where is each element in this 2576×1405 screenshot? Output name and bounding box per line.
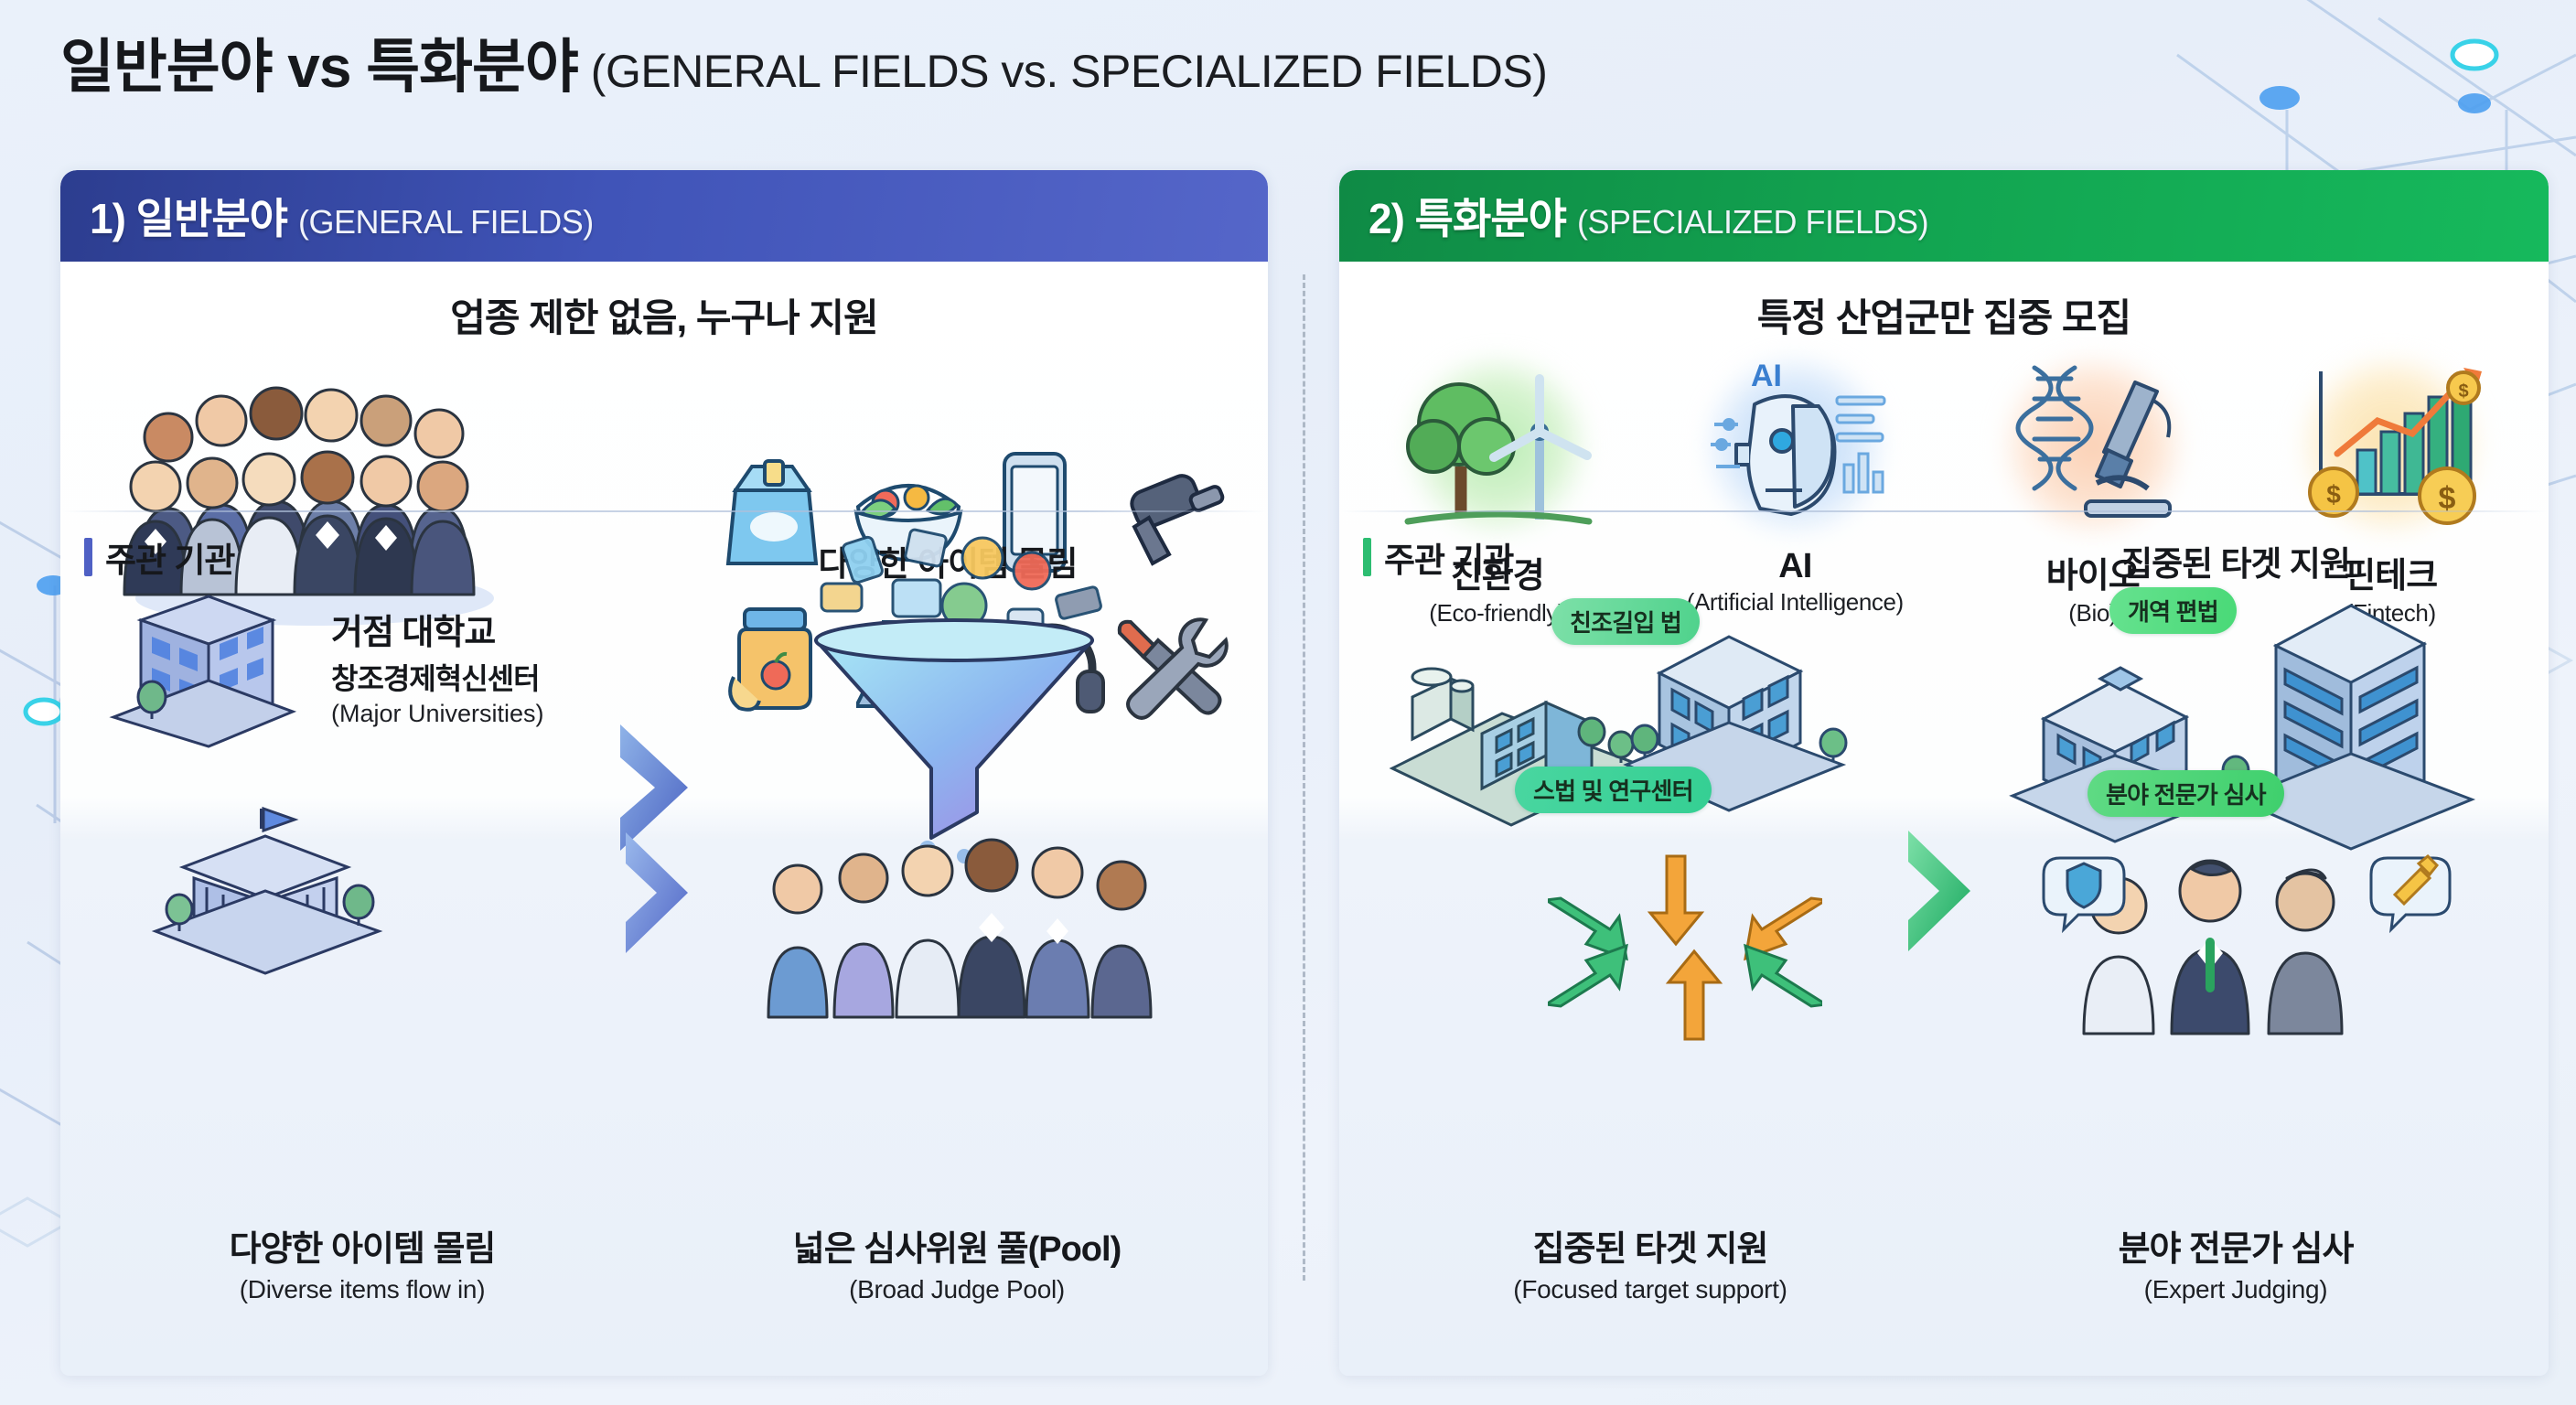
field-card[interactable]: $ $ $ 핀테크 (Fintech) <box>2253 349 2528 627</box>
general-org-subtitle: 창조경제혁신센터 <box>331 656 715 698</box>
field-art <box>1987 349 2199 542</box>
field-art: AI <box>1689 349 1901 542</box>
specialized-caption-right-en: (Expert Judging) <box>1943 1275 2528 1304</box>
specialized-caption-left-en: (Focused target support) <box>1358 1275 1943 1304</box>
field-art <box>1391 349 1604 542</box>
group-of-judges-icon <box>756 834 1176 1045</box>
chevron-right-icon <box>620 829 693 957</box>
tree-and-windmill-icon <box>1402 355 1593 534</box>
robot-head-icon: AI <box>1698 353 1892 536</box>
field-label-korean: AI <box>1658 547 1932 586</box>
office-building-icon <box>97 584 307 757</box>
specialized-section-organizer-label: 주관 기관 <box>1384 532 1513 582</box>
specialized-caption-left-ko: 집중된 타겟 지원 <box>1358 1220 1943 1271</box>
panel-specialized-body: 특정 산업군만 집중 모집 <box>1339 262 2549 1376</box>
badge-research-center[interactable]: 스법 및 연구센터 <box>1515 767 1712 813</box>
panel-general-fields: 1) 일반분야 (GENERAL FIELDS) 업종 제한 없음, 누구나 지… <box>60 170 1268 1376</box>
converging-arrows-icon <box>1548 847 1822 1048</box>
panel-specialized-header: 2) 특화분야 (SPECIALIZED FIELDS) <box>1339 170 2549 262</box>
general-caption-right-en: (Broad Judge Pool) <box>664 1275 1250 1304</box>
svg-text:$: $ <box>2326 480 2341 509</box>
general-caption-left: 다양한 아이템 몰림 (Diverse items flow in) <box>79 1220 646 1304</box>
general-section-organizer: 주관 기관 <box>84 532 234 582</box>
specialized-mid-divider <box>1339 510 2549 512</box>
specialized-caption-right: 분야 전문가 심사 (Expert Judging) <box>1943 1220 2528 1304</box>
svg-text:AI: AI <box>1751 359 1782 393</box>
specialized-field-list: 친환경 (Eco-friendly) AI <box>1348 349 2539 627</box>
page-title-english: (GENERAL FIELDS vs. SPECIALIZED FIELDS) <box>591 45 1548 98</box>
field-card[interactable]: 바이오 (Bio) <box>1956 349 2230 627</box>
general-caption-left-en: (Diverse items flow in) <box>79 1275 646 1304</box>
badge-eco-law[interactable]: 친조길입 법 <box>1551 598 1700 645</box>
page-title: 일반분야 vs 특화분야 (GENERAL FIELDS vs. SPECIAL… <box>60 20 1547 104</box>
panel-specialized-fields: 2) 특화분야 (SPECIALIZED FIELDS) 특정 산업군만 집중 … <box>1339 170 2549 1376</box>
svg-text:$: $ <box>2459 381 2469 402</box>
general-mid-divider <box>60 510 1268 512</box>
general-org-english: (Major Universities) <box>331 700 715 728</box>
panel-specialized-header-korean: 2) 특화분야 <box>1368 186 1566 246</box>
section-accent-bar <box>84 538 92 576</box>
funnel-with-items-icon <box>737 527 1167 865</box>
expert-judges-icon <box>2031 851 2461 1052</box>
panel-general-header-english: (GENERAL FIELDS) <box>298 203 594 241</box>
specialized-caption-left: 집중된 타겟 지원 (Focused target support) <box>1358 1220 1943 1304</box>
panel-general-header-korean: 1) 일반분야 <box>90 186 287 246</box>
specialized-caption-right-ko: 분야 전문가 심사 <box>1943 1220 2528 1271</box>
panel-general-header: 1) 일반분야 (GENERAL FIELDS) <box>60 170 1268 262</box>
general-caption-right: 넓은 심사위원 풀(Pool) (Broad Judge Pool) <box>664 1220 1250 1304</box>
general-organizer-text: 거점 대학교 창조경제혁신센터 (Major Universities) <box>331 604 715 728</box>
field-card[interactable]: 친환경 (Eco-friendly) <box>1360 349 1635 627</box>
section-accent-bar <box>1363 538 1371 576</box>
general-caption-left-ko: 다양한 아이템 몰림 <box>79 1220 646 1271</box>
general-subtitle: 업종 제한 없음, 누구나 지원 <box>60 287 1268 343</box>
specialized-section-target-label: 집중된 타겟 지원 <box>1943 536 2528 585</box>
growth-chart-coins-icon: $ $ $ <box>2293 355 2487 534</box>
dna-microscope-icon <box>1998 355 2188 534</box>
specialized-subtitle: 특정 산업군만 집중 모집 <box>1339 287 2549 343</box>
general-caption-right-ko: 넓은 심사위원 풀(Pool) <box>664 1220 1250 1271</box>
general-org-title: 거점 대학교 <box>331 604 715 654</box>
field-card[interactable]: AI <box>1658 349 1932 617</box>
badge-expert-review[interactable]: 분야 전문가 심사 <box>2088 770 2284 817</box>
general-section-organizer-label: 주관 기관 <box>105 532 234 582</box>
university-building-icon <box>134 801 408 975</box>
field-art: $ $ $ <box>2284 349 2496 542</box>
panel-divider <box>1303 274 1305 1281</box>
page-title-korean: 일반분야 vs 특화분야 <box>60 20 578 104</box>
chevron-right-icon <box>1903 827 1976 955</box>
badge-reorganization[interactable]: 개역 편법 <box>2109 587 2237 634</box>
specialized-section-organizer: 주관 기관 <box>1363 532 1513 582</box>
panel-specialized-header-english: (SPECIALIZED FIELDS) <box>1577 203 1928 241</box>
panel-general-body: 업종 제한 없음, 누구나 지원 <box>60 262 1268 1376</box>
